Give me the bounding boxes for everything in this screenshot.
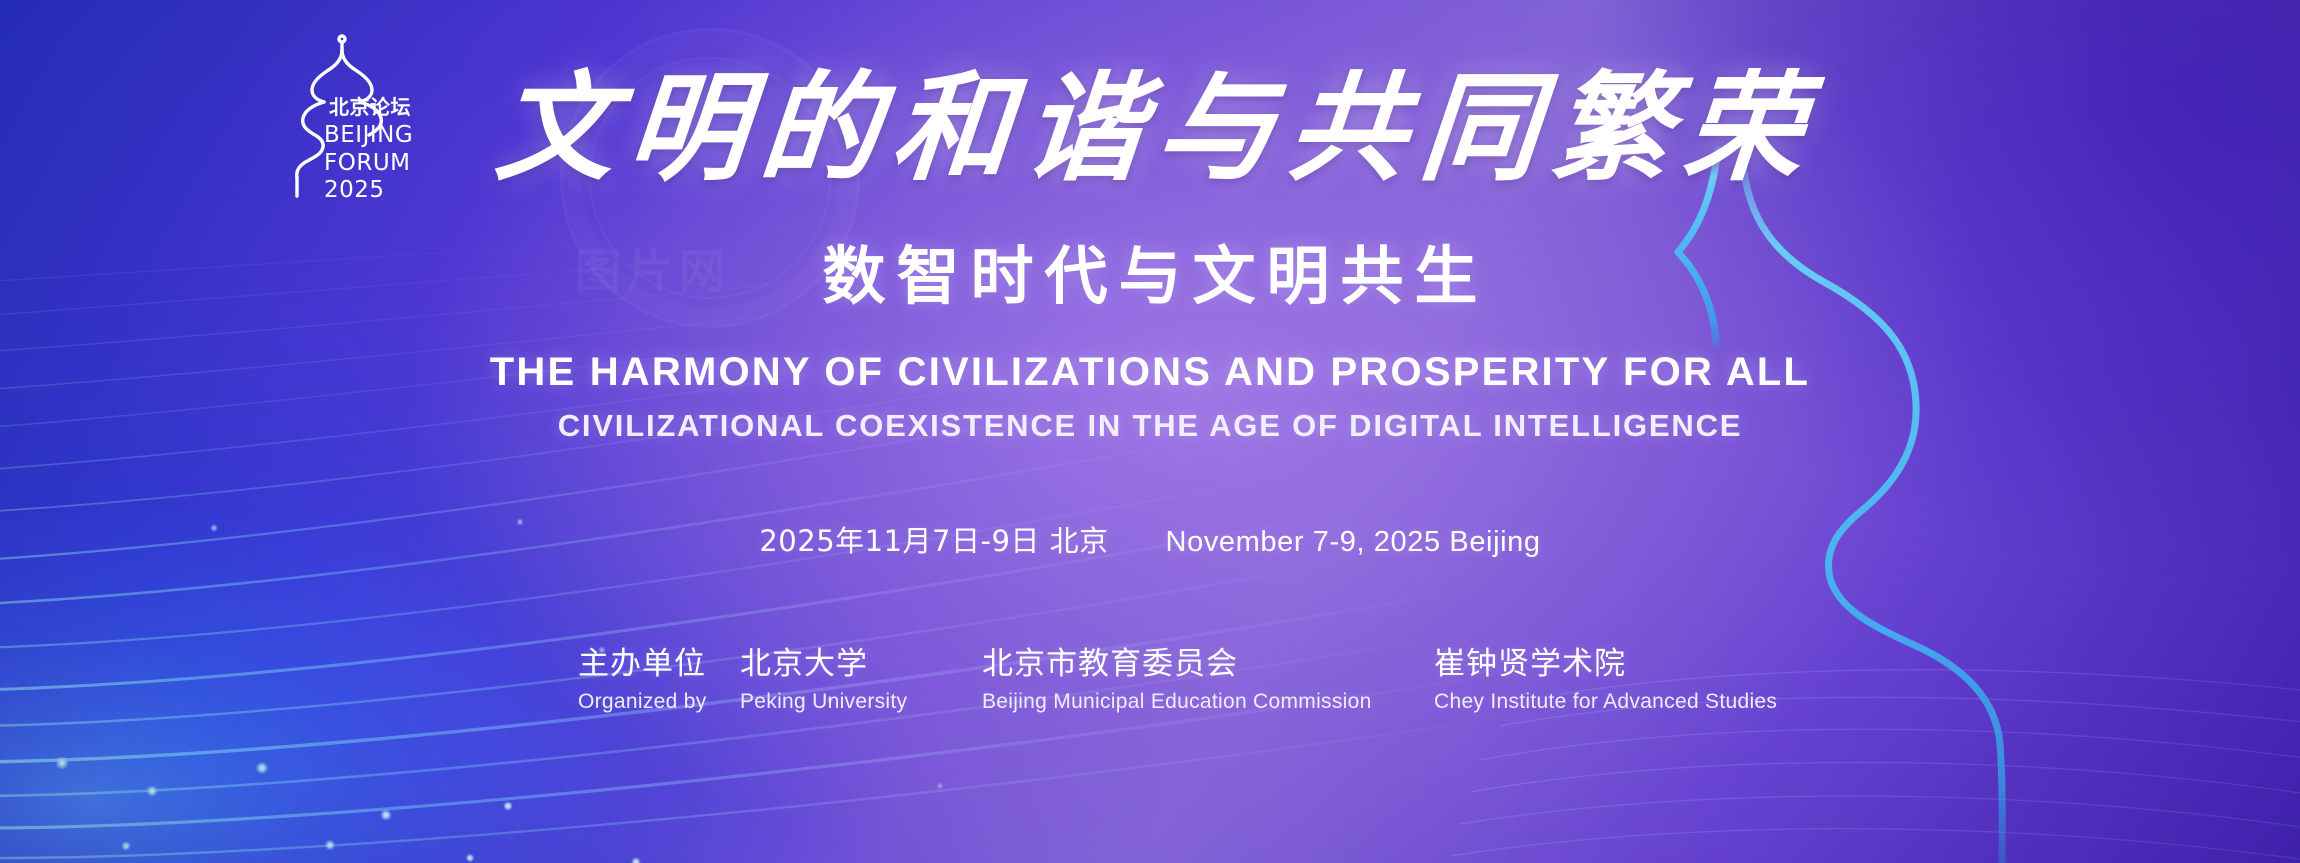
subtitle-english: CIVILIZATIONAL COEXISTENCE IN THE AGE OF… <box>0 408 2300 444</box>
organizer-cn: 北京大学 <box>740 646 982 683</box>
organizer-label: 主办单位 Organized by <box>578 646 740 715</box>
date-chinese: 2025年11月7日-9日 北京 <box>759 524 1108 558</box>
organizer-label-cn: 主办单位 <box>578 646 740 683</box>
organizer-cn: 北京市教育委员会 <box>982 646 1434 683</box>
organizer-cn: 崔钟贤学术院 <box>1434 646 1777 683</box>
banner-content: 文明的和谐与共同繁荣 数智时代与文明共生 THE HARMONY OF CIVI… <box>0 0 2300 863</box>
date-english: November 7-9, 2025 Beijing <box>1166 526 1541 558</box>
organizer-peking-university: 北京大学 Peking University <box>740 646 982 715</box>
conference-banner: 图片网 北京论坛 BEIJING FORUM <box>0 0 2300 863</box>
organizer-chey-institute: 崔钟贤学术院 Chey Institute for Advanced Studi… <box>1434 646 1777 715</box>
event-dateline: 2025年11月7日-9日 北京 November 7-9, 2025 Beij… <box>0 518 2300 560</box>
organizers-row: 主办单位 Organized by 北京大学 Peking University… <box>578 646 1777 715</box>
subtitle-chinese: 数智时代与文明共生 <box>0 226 2300 317</box>
organizer-education-commission: 北京市教育委员会 Beijing Municipal Education Com… <box>982 646 1434 715</box>
organizer-en: Beijing Municipal Education Commission <box>982 688 1434 715</box>
main-title-chinese: 文明的和谐与共同繁荣 <box>0 62 2300 194</box>
organizer-en: Peking University <box>740 688 982 715</box>
main-title-english: THE HARMONY OF CIVILIZATIONS AND PROSPER… <box>0 350 2300 395</box>
organizer-en: Chey Institute for Advanced Studies <box>1434 688 1777 715</box>
organizer-label-en: Organized by <box>578 688 740 715</box>
